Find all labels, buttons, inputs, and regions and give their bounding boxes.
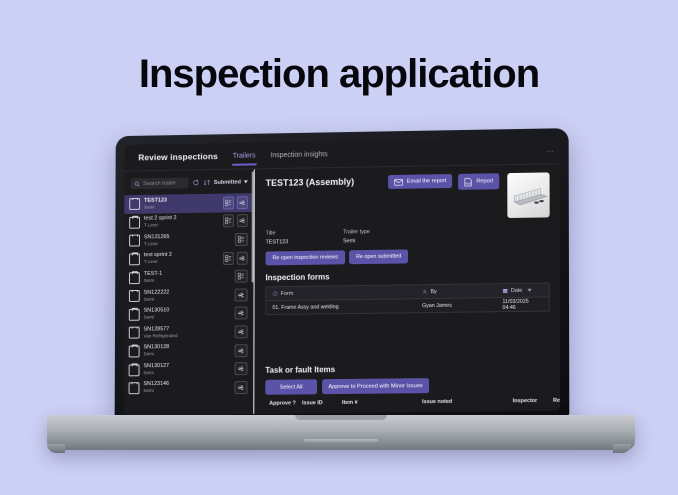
list-item-actions: [223, 362, 248, 375]
laptop-base: [47, 415, 635, 450]
trailer-photo: [507, 172, 549, 218]
chevron-down-icon: [244, 180, 248, 183]
list-item[interactable]: TEST123Semi: [124, 193, 253, 213]
list-item[interactable]: SN122222Semi: [124, 285, 254, 305]
list-item-text: test sprint 2T-Liner: [144, 252, 219, 266]
trailer-icon[interactable]: [235, 362, 248, 375]
column-item-number: Item #: [342, 399, 422, 406]
list-item-actions: [223, 233, 248, 246]
column-inspector: Inspector: [513, 398, 553, 404]
trailer-icon[interactable]: [235, 307, 248, 320]
laptop-screen: Review inspections Trailers Inspection i…: [124, 137, 561, 415]
cell-by: Gyan James: [422, 302, 502, 309]
search-input[interactable]: Search trailer: [130, 177, 188, 189]
trailer-icon[interactable]: [237, 214, 248, 227]
list-item-type: Van Refrigerated: [144, 332, 219, 339]
header-overflow-icon[interactable]: ···: [546, 148, 553, 155]
detail-header: TEST123 (Assembly) Email the report PDF: [266, 172, 550, 221]
list-item-type: Semi: [144, 295, 219, 302]
column-by-label: By: [431, 288, 437, 294]
column-form-label: Form: [281, 290, 293, 296]
inspection-forms-heading: Inspection forms: [265, 269, 549, 282]
trailer-icon[interactable]: [235, 288, 248, 301]
trailer-icon[interactable]: [237, 251, 248, 264]
reopen-inspection-reviews-button[interactable]: Re open inspection reviews: [266, 250, 346, 265]
clipboard-icon: [129, 327, 140, 339]
select-all-button[interactable]: Select All: [265, 379, 317, 395]
trailer-icon[interactable]: [237, 196, 248, 209]
reopen-submitted-button[interactable]: Re open submitted: [349, 249, 408, 264]
email-report-label: Email the report: [407, 178, 447, 185]
list-item[interactable]: test 2 sprint 2T-Liner: [124, 212, 253, 232]
column-issue-id: Issue ID: [302, 400, 342, 406]
tab-bar: Trailers Inspection insights: [232, 141, 329, 168]
clipboard-icon: [129, 364, 140, 376]
cell-date: 11/03/2025 04:46: [502, 298, 542, 311]
sort-icon[interactable]: [203, 179, 210, 186]
trailer-list-panel: Search trailer Submitted: [124, 169, 255, 415]
email-report-button[interactable]: Email the report: [388, 174, 453, 189]
column-form[interactable]: Form: [272, 289, 422, 297]
list-item-type: T-Liner: [144, 222, 219, 230]
column-date[interactable]: Date: [502, 287, 542, 294]
clipboard-icon: [129, 382, 140, 394]
clipboard-icon: [129, 253, 140, 265]
list-item-text: SN128577Van Refrigerated: [144, 325, 219, 339]
clipboard-icon: [129, 346, 140, 358]
list-item[interactable]: SN128577Van Refrigerated: [124, 322, 254, 342]
detail-fields: Title TEST123 Trailer type Semi: [266, 225, 550, 247]
form-icon[interactable]: [223, 196, 234, 209]
column-issue-noted: Issue noted: [422, 398, 513, 405]
status-filter-select[interactable]: Submitted: [214, 179, 248, 185]
laptop-base-notch: [295, 415, 387, 420]
sort-chevron-down-icon[interactable]: [527, 289, 531, 292]
clock-icon: [272, 291, 277, 297]
laptop-lid: Review inspections Trailers Inspection i…: [115, 128, 570, 421]
list-item-text: SN122222Semi: [144, 288, 219, 302]
list-scrollbar[interactable]: [252, 171, 254, 282]
tab-trailers[interactable]: Trailers: [232, 143, 257, 169]
clipboard-icon: [129, 198, 140, 210]
trailer-icon[interactable]: [235, 325, 248, 338]
app-title: Review inspections: [138, 151, 218, 162]
list-item-text: SN130510Semi: [144, 307, 219, 321]
task-fault-actions: Select All Approve to Proceed with Minor…: [265, 377, 560, 395]
list-item-actions: [223, 196, 248, 209]
person-icon: [422, 289, 428, 295]
report-label: Report: [476, 178, 493, 184]
detail-title: TEST123 (Assembly): [266, 175, 382, 189]
form-icon[interactable]: [223, 252, 234, 265]
form-icon[interactable]: [223, 215, 234, 228]
clipboard-icon: [129, 290, 140, 302]
clipboard-icon: [129, 272, 140, 284]
list-item-actions: [223, 288, 248, 301]
field-title: Title TEST123: [266, 228, 344, 247]
list-item-type: T-Liner: [144, 240, 219, 248]
column-reworked: Reworked: [553, 398, 560, 404]
laptop-foot-left: [47, 444, 65, 453]
list-item[interactable]: SN131265T-Liner: [124, 230, 253, 250]
list-item-actions: [223, 214, 248, 227]
list-item[interactable]: SN123146Semi: [124, 378, 254, 398]
task-fault-heading: Task or fault Items: [265, 363, 560, 375]
list-item-text: test 2 sprint 2T-Liner: [144, 215, 219, 230]
reopen-buttons: Re open inspection reviews Re open submi…: [266, 247, 550, 265]
list-item[interactable]: SN130510Semi: [124, 304, 254, 324]
status-filter-value: Submitted: [214, 179, 241, 185]
trailer-icon[interactable]: [235, 344, 248, 357]
column-approve: Approve ?: [269, 400, 302, 406]
list-item-text: SN130128Semi: [143, 344, 218, 358]
list-item-actions: [223, 344, 248, 357]
trailer-icon[interactable]: [234, 381, 247, 394]
task-fault-section: Task or fault Items Select All Approve t…: [265, 355, 560, 414]
form-icon[interactable]: [235, 233, 248, 246]
tab-inspection-insights[interactable]: Inspection insights: [269, 141, 328, 168]
list-item-actions: [223, 381, 248, 394]
envelope-icon: [394, 178, 403, 185]
list-filter-bar: Search trailer Submitted: [124, 169, 253, 195]
list-item-type: Semi: [144, 314, 219, 321]
list-item[interactable]: test sprint 2T-Liner: [124, 248, 254, 268]
search-icon: [134, 181, 140, 187]
list-item-text: SN131265T-Liner: [144, 233, 219, 247]
laptop-mockup: Review inspections Trailers Inspection i…: [0, 0, 678, 495]
laptop-foot-right: [613, 444, 631, 453]
list-item-text: SN130127Semi: [143, 362, 218, 376]
cell-form: 01. Frame Assy and welding: [272, 303, 422, 311]
list-item-type: Semi: [143, 388, 218, 395]
detail-panel: TEST123 (Assembly) Email the report PDF: [254, 164, 560, 414]
list-item-type: Semi: [144, 277, 219, 284]
form-icon[interactable]: [235, 270, 248, 283]
calendar-icon: [502, 288, 508, 294]
report-button[interactable]: PDF Report: [458, 173, 499, 190]
clipboard-icon: [129, 309, 140, 321]
list-item-type: Semi: [143, 351, 218, 358]
refresh-icon[interactable]: [192, 179, 199, 186]
search-placeholder: Search trailer: [143, 180, 176, 186]
list-item-text: SN123146Semi: [143, 381, 218, 395]
task-fault-table-header: Approve ? Issue ID Item # Issue noted In…: [265, 398, 560, 414]
list-item-type: T-Liner: [144, 258, 219, 266]
list-item[interactable]: TEST-1Semi: [124, 267, 254, 287]
column-by[interactable]: By: [422, 288, 502, 295]
list-item-type: Semi: [143, 369, 218, 376]
list-item-actions: [223, 307, 248, 320]
field-title-value: TEST123: [266, 236, 344, 247]
list-item-actions: [223, 270, 248, 283]
list-item-type: Semi: [144, 203, 219, 211]
svg-text:PDF: PDF: [466, 181, 472, 185]
list-item-text: TEST123Semi: [144, 196, 219, 211]
list-item-actions: [223, 251, 248, 264]
list-item-text: TEST-1Semi: [144, 270, 219, 284]
inspection-forms-table: Form By: [265, 282, 549, 315]
pdf-icon: PDF: [464, 177, 472, 186]
approve-minor-issues-button[interactable]: Approve to Proceed with Minor Issues: [322, 378, 429, 394]
trailer-list[interactable]: TEST123Semitest 2 sprint 2T-LinerSN13126…: [124, 193, 254, 415]
table-row[interactable]: 01. Frame Assy and welding Gyan James 11…: [266, 298, 548, 315]
list-item-actions: [223, 325, 248, 338]
list-item[interactable]: SN130128Semi: [124, 341, 254, 361]
inspection-app: Review inspections Trailers Inspection i…: [124, 137, 561, 415]
field-trailer-type-value: Semi: [343, 235, 421, 246]
clipboard-icon: [129, 217, 140, 229]
list-item[interactable]: SN130127Semi: [124, 359, 254, 379]
app-body: Search trailer Submitted: [124, 164, 561, 415]
field-trailer-type: Trailer type Semi: [343, 227, 421, 246]
column-date-label: Date: [511, 287, 522, 293]
clipboard-icon: [129, 235, 140, 247]
